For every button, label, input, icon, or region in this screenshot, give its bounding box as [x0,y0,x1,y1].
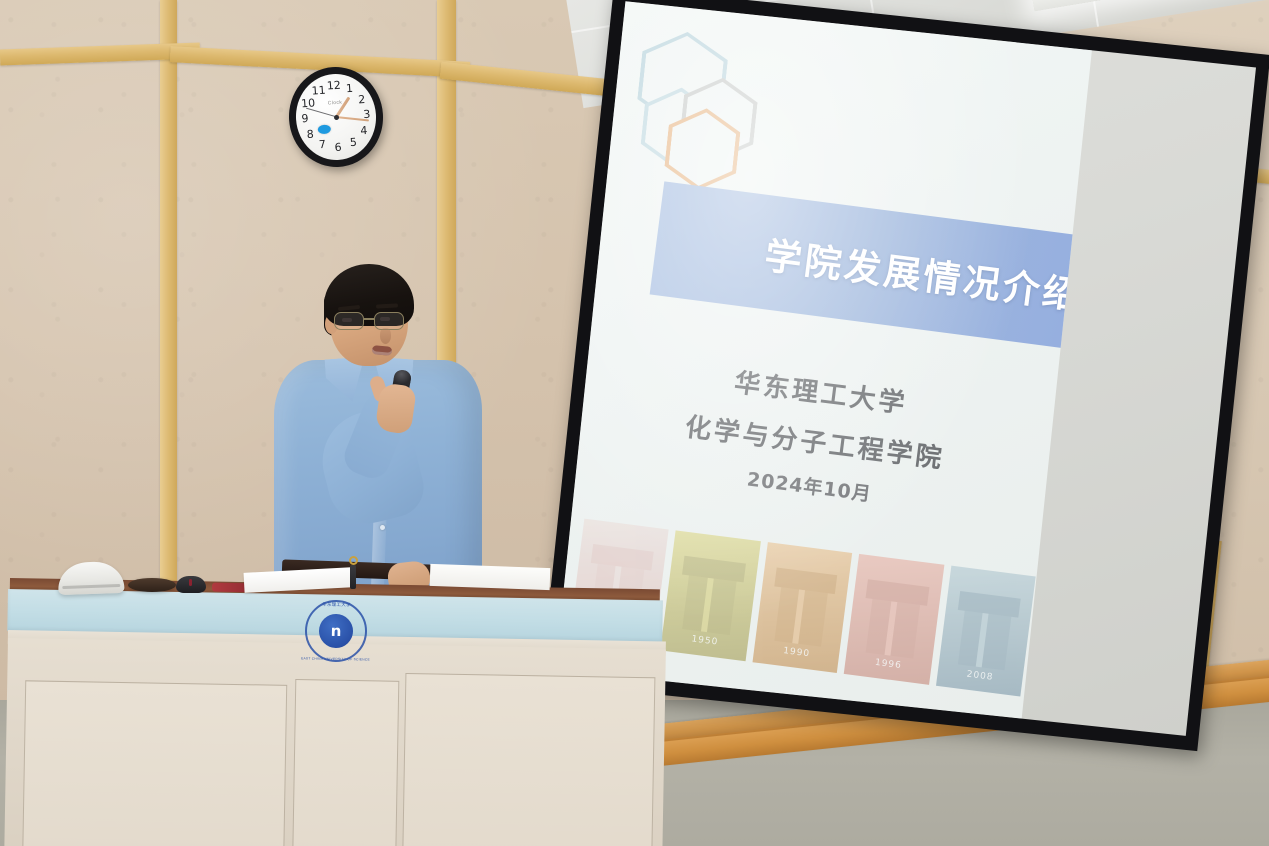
slide-title: 学院发展情况介绍 [762,226,1086,321]
presenter-glasses [334,312,412,332]
thumb-new-campus: 2008 [936,565,1036,696]
thumb-old-building: 1950 [660,530,760,661]
clock-center-pin [333,114,338,119]
lectern-panel-left [22,680,287,846]
clock-face: Clock 121234567891011 [293,71,379,162]
clock-numeral-2: 2 [354,92,369,107]
emblem-top-text: 华东理工大学 [322,602,351,609]
clock-numeral-6: 6 [331,140,346,155]
lectern-panel-right [402,673,656,846]
mouse-scroll-wheel [189,579,192,586]
computer-mouse [176,576,206,593]
clock-numeral-12: 12 [326,79,341,94]
lectern-body [4,638,666,846]
dark-bowl [128,578,176,592]
glasses-lens-left [334,312,364,330]
clock-numeral-8: 8 [303,127,318,142]
lecture-hall-photo: Clock 121234567891011 [0,0,1269,846]
paper-stack-right [430,564,551,590]
key-ring [349,556,358,565]
emblem-monogram: n [304,599,367,662]
clock-brand: Clock [328,100,343,107]
thumb-new-campus-year: 2008 [966,670,994,683]
presenter [268,262,498,602]
thumb-campus-gate-year: 1990 [782,646,810,659]
university-emblem: n 华东理工大学 EAST CHINA UNIVERSITY OF SCIENC… [304,599,367,662]
slide-title-band: 学院发展情况介绍 [650,182,1092,358]
slide-subtitle-block: 华东理工大学 化学与分子工程学院 2024年10月 [575,344,1056,528]
lectern-panel-center [292,679,400,846]
thumb-campus-gate: 1990 [752,542,852,673]
clock-accent-icon [318,124,332,134]
glasses-lens-right [374,312,404,330]
thumb-old-building-year: 1950 [691,635,719,648]
clock-numeral-11: 11 [311,84,326,99]
presenter-nose [380,328,391,344]
helmet-strap [62,584,120,589]
clock-numeral-5: 5 [346,135,361,150]
thumb-campus-walkway-year: 1996 [874,658,902,671]
hexagon-decoration [629,27,784,191]
presenter-mouth [372,345,393,356]
key-body [350,565,356,589]
thumb-campus-walkway: 1996 [844,554,944,685]
keys [348,556,358,590]
clock-numeral-9: 9 [298,112,313,127]
glasses-bridge [364,318,374,320]
